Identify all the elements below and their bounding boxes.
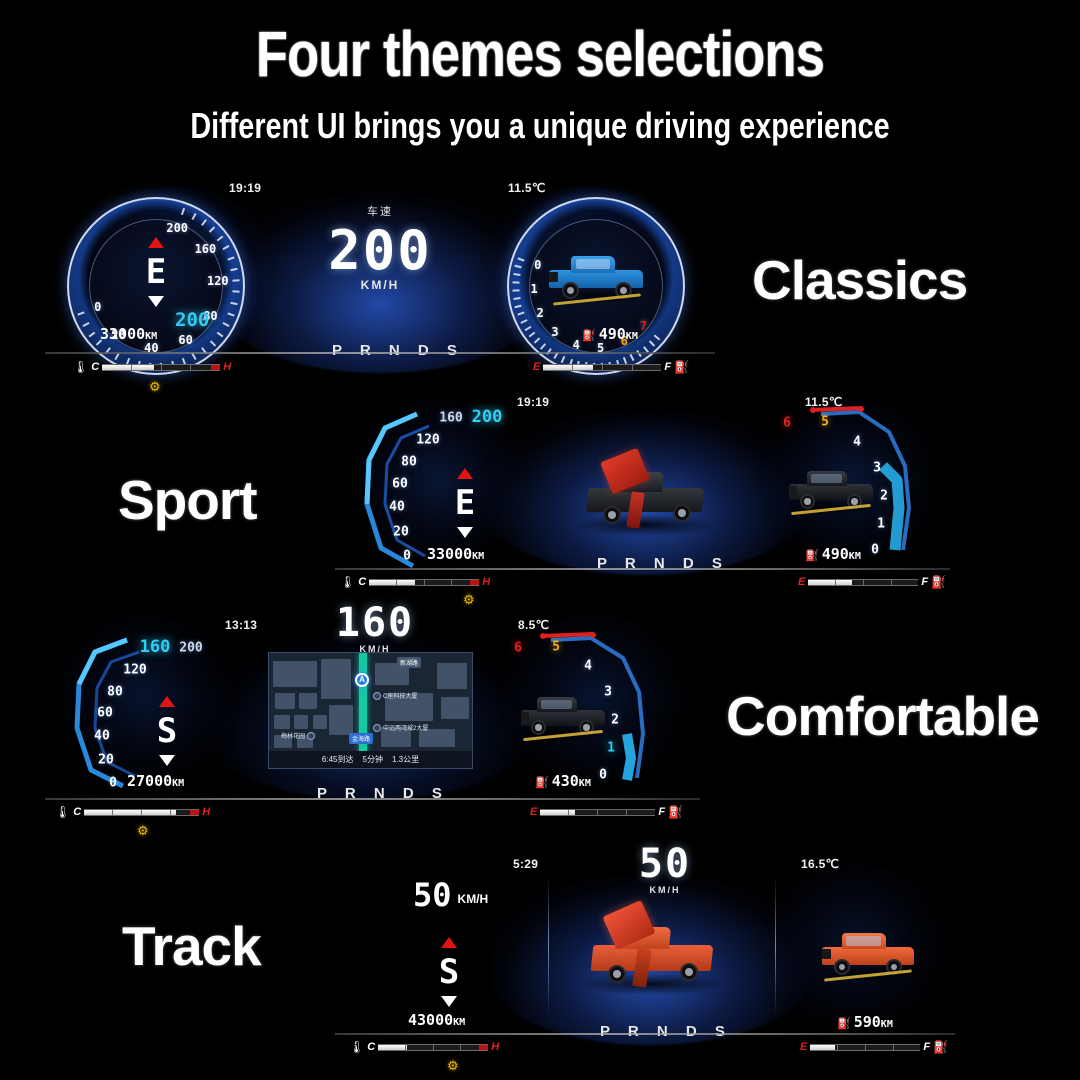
map-street-label: 金海路 [349,733,373,744]
range-value: 490 [599,325,626,343]
side-speed-value: 50 [413,881,452,910]
vehicle-wheel-front [603,506,621,524]
temp-gauge-track [84,809,199,816]
page-title: Four themes selections [97,22,983,86]
compass-down-arrow-icon [441,996,457,1007]
speedo-tick-40: 40 [94,729,110,744]
map-eta-bar: 6:45到达 5分钟 1.3公里 [269,751,472,768]
navigation-map[interactable]: A 新湖路 C座科技大厦 中远两湾城2大厦 梅林花园 金海路 6:45到达 5分… [268,652,473,769]
speedo-tick-20: 20 [98,753,114,768]
center-speed-panel: 160 KM/H [270,604,480,654]
center-speed-panel: 50 KM/H [565,845,765,895]
fuel-gauge-empty-label: E [533,361,540,373]
compass-direction: E [123,255,189,289]
tachometer-tick-0: 0 [534,258,541,272]
time-readout: 5:29 [513,857,538,871]
compass-indicator: E [123,237,189,307]
temp-gauge-ticks [369,580,479,585]
speedo-tick-80: 80 [401,455,417,470]
speed-value: 200 [275,225,485,276]
fuel-gauge-ticks [540,810,655,815]
fuel-pump-icon: ⛽ [933,1041,948,1053]
temp-gauge-cold-label: C [91,361,99,373]
engine-warning-icon[interactable]: ⚙ [447,1059,459,1072]
vehicle-render-black [517,692,609,738]
coolant-thermometer-icon: 🌡 [55,806,70,818]
fuel-gauge[interactable]: E F ⛽ [530,806,683,818]
bottom-rail [45,352,715,354]
tacho-tick-6: 6 [783,416,791,431]
speedo-tick-160: 160 [439,411,462,426]
odometer-readout: 33000KM [100,325,157,343]
coolant-thermometer-icon: 🌡 [73,361,88,373]
fuel-gauge-ticks [543,365,661,370]
range-unit: KM [849,551,861,562]
vehicle-window [846,936,881,946]
compass-up-arrow-icon [148,237,164,248]
time-readout: 19:19 [517,395,549,409]
range-pump-icon: ⛽ [535,776,549,789]
range-readout: ⛽490KM [805,545,861,563]
temp-gauge-track [369,579,479,586]
temp-gauge-redzone [479,1045,488,1050]
vehicle-wheel-front [531,720,546,735]
odometer-unit: KM [172,778,184,789]
temp-gauge-redzone [211,365,220,370]
range-unit: KM [881,1019,893,1030]
cluster-track[interactable]: 5:29 16.5℃ 50 KM/H 50 KM/H S 43000KM [335,845,955,1060]
fuel-pump-icon: ⛽ [668,806,683,818]
bottom-rail [335,1033,955,1035]
bottom-rail [335,568,950,570]
vehicle-window [576,259,610,269]
odometer-unit: KM [145,331,157,342]
speedo-tick-200: 200 [472,407,503,427]
range-pump-icon: ⛽ [805,549,819,562]
speedometer-tick-60: 60 [178,333,192,347]
tacho-tick-4: 4 [853,435,861,450]
side-speed-panel: 50 KM/H [413,881,488,910]
tacho-tick-5: 5 [552,640,560,655]
fuel-gauge-track [540,809,655,816]
vehicle-grille [789,486,797,495]
vehicle-wheel-front [608,965,626,983]
page-subtitle: Different UI brings you a unique driving… [108,108,972,144]
tacho-tick-0: 0 [599,768,607,783]
vehicle-render-open-orange [580,907,725,995]
speed-unit: KM/H [275,278,485,292]
temp-gauge-cold-label: C [367,1041,375,1053]
map-poi-2: 中远两湾城2大厦 [373,723,428,732]
vehicle-wheel-front [562,282,579,299]
tacho-tick-5: 5 [821,415,829,430]
time-readout: 13:13 [225,618,257,632]
tachometer-tick-2: 2 [537,306,544,320]
tacho-tick-4: 4 [584,659,592,674]
map-top-label: 新湖路 [397,657,421,668]
vehicle-render-open-black [575,452,715,534]
tacho-tick-2: 2 [611,713,619,728]
coolant-thermometer-icon: 🌡 [349,1041,364,1053]
fuel-gauge-empty-label: E [530,806,537,818]
range-unit: KM [626,331,638,342]
eta-arrival: 6:45到达 [322,754,354,765]
tachometer-tick-1: 1 [530,282,537,296]
center-speed-panel: 车速 200 KM/H [275,203,485,292]
speedo-tick-120: 120 [123,663,146,678]
map-poi-1: C座科技大厦 [373,691,417,700]
tacho-tick-0: 0 [871,543,879,558]
tacho-tick-1: 1 [877,517,885,532]
temp-gauge-track [378,1044,488,1051]
fuel-gauge[interactable]: E F ⛽ [533,361,689,373]
compass-up-arrow-icon [441,937,457,948]
compass-down-arrow-icon [159,755,175,766]
temp-gauge-redzone [470,580,479,585]
speedo-tick-80: 80 [107,685,123,700]
theme-label-classics: Classics [752,248,967,312]
fuel-gauge-track [808,579,918,586]
range-unit: KM [579,778,591,789]
temp-gauge-hot-label: H [491,1041,499,1053]
range-pump-icon: ⛽ [582,329,596,342]
eta-duration: 5分钟 [363,754,383,765]
temp-gauge-redzone [190,810,199,815]
vehicle-shadow [580,973,725,995]
vehicle-grille [521,712,529,721]
vehicle-wheel-rear [673,504,691,522]
range-readout: ⛽590KM [837,1013,893,1031]
vehicle-wheel-rear [680,963,698,981]
cluster-sport[interactable]: 19:19 11.5℃ 160 200 120 80 60 40 20 0 E … [335,390,950,590]
engine-warning-icon[interactable]: ⚙ [149,380,161,393]
fuel-gauge-track [543,364,661,371]
fuel-pump-icon: ⛽ [931,576,946,588]
compass-direction: E [435,486,495,520]
temp-gauge-track [102,364,220,371]
speedo-tick-40: 40 [389,500,405,515]
compass-up-arrow-icon [457,468,473,479]
coolant-thermometer-icon: 🌡 [340,576,355,588]
gear-indicator: P R N D S [600,1023,732,1040]
fuel-gauge[interactable]: E F ⛽ [798,576,946,588]
mini-speed-readout: 200 [175,309,209,331]
speedo-tick-120: 120 [416,433,439,448]
vehicle-wheel-front [800,494,815,509]
temp-gauge-ticks [102,365,220,370]
temp-gauge-hot-label: H [223,361,231,373]
panel-divider-right [775,875,776,1015]
engine-warning-icon[interactable]: ⚙ [137,824,149,837]
temp-gauge-hot-label: H [202,806,210,818]
tachometer-minor-tick [513,281,520,283]
compass-direction: S [137,714,197,748]
map-poi-3: 梅林花园 [281,731,315,740]
compass-down-arrow-icon [148,296,164,307]
coolant-temp-gauge[interactable]: 🌡 C H [340,576,490,588]
tachometer-minor-tick [513,289,520,291]
speedo-tick-0: 0 [109,776,117,791]
odometer-value: 33000 [100,325,145,343]
coolant-temp-gauge[interactable]: 🌡 C H [73,361,231,373]
temperature-readout: 11.5℃ [508,181,546,195]
vehicle-shadow [575,514,715,536]
speedometer-tick-120: 120 [207,274,229,288]
speedo-tick-0: 0 [403,549,411,564]
speedometer-tick-200: 200 [166,221,188,235]
gear-indicator: P R N D S [332,342,464,359]
compass-direction: S [420,955,478,989]
odometer-readout: 43000KM [408,1011,465,1029]
compass-indicator: E [435,468,495,538]
fuel-gauge[interactable]: E F ⛽ [800,1041,948,1053]
coolant-temp-gauge[interactable]: 🌡 C H [55,806,210,818]
speed-value: 160 [270,604,480,642]
tacho-tick-6: 6 [514,641,522,656]
odometer-value: 33000 [427,545,472,563]
temp-gauge-cold-label: C [73,806,81,818]
cluster-classics[interactable]: 19:19 11.5℃ 020406080120160200 E 200 330… [45,175,715,390]
cluster-comfortable[interactable]: 13:13 8.5℃ 160 KM/H 160 200 120 80 60 40… [45,600,700,820]
vehicle-grille [822,949,831,959]
temp-gauge-ticks [84,810,199,815]
eta-distance: 1.3公里 [392,754,419,765]
temp-gauge-hot-label: H [482,576,490,588]
fuel-gauge-ticks [810,1045,920,1050]
range-readout: ⛽490KM [582,325,638,343]
tachometer-tick-3: 3 [551,325,558,339]
theme-label-track: Track [122,914,261,978]
odometer-readout: 33000KM [427,545,484,563]
range-pump-icon: ⛽ [837,1017,851,1030]
vehicle-window [811,474,842,483]
speedo-tick-160: 160 [140,637,171,657]
time-readout: 19:19 [229,181,261,195]
range-readout: ⛽430KM [535,772,591,790]
range-value: 490 [822,545,849,563]
speedo-tick-20: 20 [393,525,409,540]
speedo-tick-60: 60 [392,477,408,492]
vehicle-grille [549,272,558,282]
vehicle-render-black [785,466,877,512]
tachometer-tick-7: 7 [640,319,647,333]
fuel-gauge-track [810,1044,920,1051]
temp-gauge-ticks [378,1045,488,1050]
map-vehicle-puck: A [355,673,369,687]
speedometer-tick-160: 160 [195,242,217,256]
range-value: 590 [854,1013,881,1031]
speedo-tick-200: 200 [179,641,202,656]
theme-label-sport: Sport [118,468,257,532]
coolant-temp-gauge[interactable]: 🌡 C H [349,1041,499,1053]
fuel-gauge-full-label: F [664,361,671,373]
temp-gauge-cold-label: C [358,576,366,588]
tacho-tick-2: 2 [880,489,888,504]
theme-label-comfortable: Comfortable [726,684,1039,748]
vehicle-window [541,700,572,709]
bottom-rail [45,798,700,800]
odometer-value: 27000 [127,772,172,790]
speedometer-tick-0: 0 [94,300,101,314]
header-block: Four themes selections Different UI brin… [0,0,1080,144]
compass-down-arrow-icon [457,527,473,538]
odometer-value: 43000 [408,1011,453,1029]
compass-indicator: S [420,937,478,1007]
tachometer-tick-4: 4 [573,338,580,352]
vehicle-wheel-front [834,959,850,975]
odometer-unit: KM [472,551,484,562]
speed-value: 50 [565,845,765,883]
speedo-tick-60: 60 [97,706,113,721]
tacho-tick-1: 1 [607,741,615,756]
fuel-gauge-empty-label: E [798,576,805,588]
compass-indicator: S [137,696,197,766]
range-value: 430 [552,772,579,790]
fuel-gauge-full-label: F [921,576,928,588]
odometer-readout: 27000KM [127,772,184,790]
odometer-unit: KM [453,1017,465,1028]
speed-label-cn: 车速 [275,203,485,219]
fuel-gauge-empty-label: E [800,1041,807,1053]
vehicle-render-orange [818,929,918,979]
fuel-gauge-full-label: F [658,806,665,818]
compass-up-arrow-icon [159,696,175,707]
fuel-gauge-full-label: F [923,1041,930,1053]
fuel-gauge-ticks [808,580,918,585]
side-speed-unit: KM/H [458,892,489,906]
speed-unit: KM/H [565,885,765,895]
vehicle-render-blue [545,250,649,302]
temperature-readout: 16.5℃ [801,857,839,871]
fuel-pump-icon: ⛽ [674,361,689,373]
panel-divider-left [548,875,549,1015]
